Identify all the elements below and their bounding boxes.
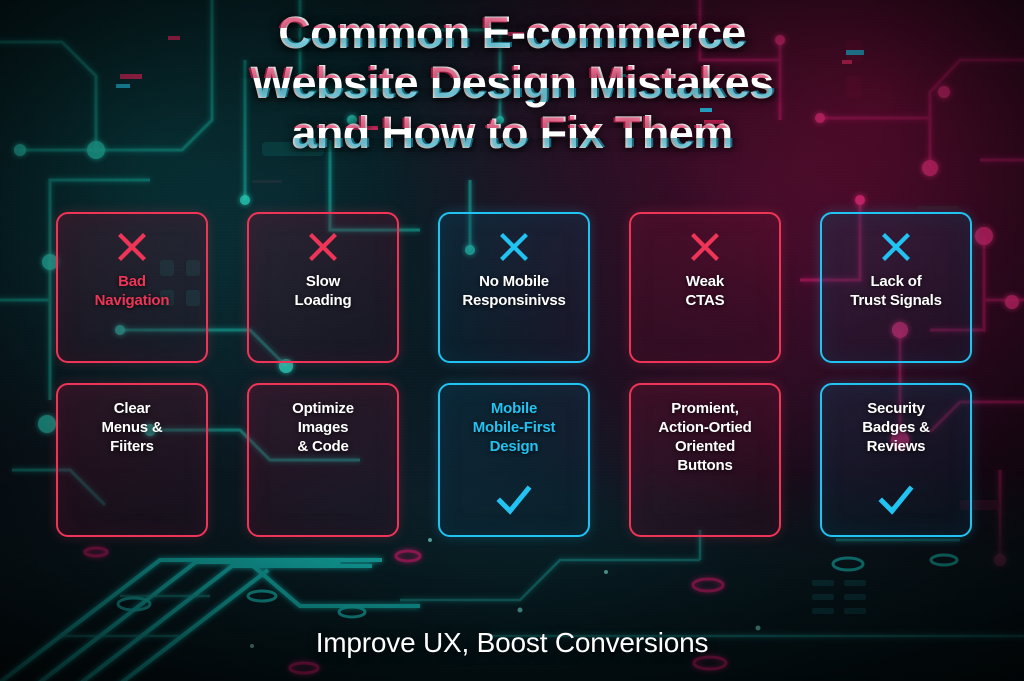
problem-label: Lack ofTrust Signals (844, 272, 948, 310)
problem-card[interactable]: WeakCTAS (629, 212, 781, 363)
problem-label: WeakCTAS (680, 272, 731, 310)
title-line-3: and How to Fix Them (0, 108, 1024, 158)
solution-card[interactable]: MobileMobile-FirstDesign (438, 383, 590, 537)
infographic-canvas: Common E-commerce Website Design Mistake… (0, 0, 1024, 681)
solution-label: SecurityBadges &Reviews (856, 399, 936, 456)
column-1: BadNavigationClearMenus &Fiiters (56, 212, 208, 537)
cross-icon (115, 230, 149, 264)
solution-label: ClearMenus &Fiiters (95, 399, 168, 456)
title-line-2: Website Design Mistakes (0, 58, 1024, 108)
problem-label: No MobileResponsinivss (456, 272, 571, 310)
column-5: Lack ofTrust SignalsSecurityBadges &Revi… (820, 212, 972, 537)
cross-icon (306, 230, 340, 264)
cross-icon (879, 230, 913, 264)
problem-card[interactable]: Lack ofTrust Signals (820, 212, 972, 363)
check-icon (496, 485, 532, 515)
footer-tagline: Improve UX, Boost Conversions (0, 627, 1024, 659)
check-icon (878, 485, 914, 515)
cross-icon (688, 230, 722, 264)
problem-card[interactable]: SlowLoading (247, 212, 399, 363)
mistake-solution-grid: BadNavigationClearMenus &FiitersSlowLoad… (56, 212, 972, 537)
title-line-1: Common E-commerce (0, 8, 1024, 58)
problem-card[interactable]: No MobileResponsinivss (438, 212, 590, 363)
solution-card[interactable]: SecurityBadges &Reviews (820, 383, 972, 537)
problem-label: SlowLoading (289, 272, 358, 310)
solution-card[interactable]: OptimizeImages& Code (247, 383, 399, 537)
column-3: No MobileResponsinivssMobileMobile-First… (438, 212, 590, 537)
problem-label: BadNavigation (89, 272, 176, 310)
solution-card[interactable]: ClearMenus &Fiiters (56, 383, 208, 537)
solution-card[interactable]: Promient,Action-OrtiedOrientedButtons (629, 383, 781, 537)
problem-card[interactable]: BadNavigation (56, 212, 208, 363)
column-4: WeakCTASPromient,Action-OrtiedOrientedBu… (629, 212, 781, 537)
solution-label: OptimizeImages& Code (286, 399, 360, 456)
page-title: Common E-commerce Website Design Mistake… (0, 8, 1024, 158)
cross-icon (497, 230, 531, 264)
column-2: SlowLoadingOptimizeImages& Code (247, 212, 399, 537)
solution-label: Promient,Action-OrtiedOrientedButtons (652, 399, 757, 475)
solution-label: MobileMobile-FirstDesign (467, 399, 562, 456)
